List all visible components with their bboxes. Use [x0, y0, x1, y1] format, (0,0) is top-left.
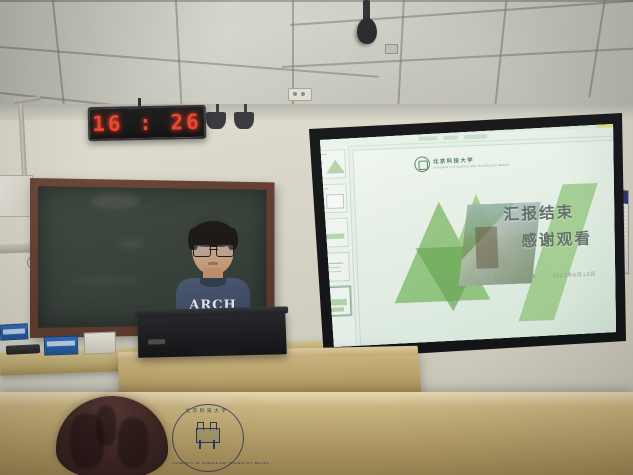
- emblem-english-text: UNIVERSITY OF SCIENCE AND TECHNOLOGY BEI…: [172, 461, 242, 465]
- classroom-photo: 通知栏 16 : 26 演示文稿1 - PowerPoint: [0, 0, 633, 475]
- clock-time-display: 16 : 26: [92, 110, 202, 136]
- digital-wall-clock: 16 : 26: [88, 105, 207, 141]
- university-emblem: 北京科技大学 UNIVERSITY OF SCIENCE AND TECHNOL…: [172, 404, 242, 470]
- presenter-shirt-collar: [200, 278, 226, 287]
- glasses-lens-right: [216, 244, 234, 257]
- presenter-mouth: [208, 262, 218, 265]
- slide-date-label: 2023年6月13日: [552, 271, 596, 280]
- powerpoint-window[interactable]: 演示文稿1 - PowerPoint 文件 开始 插入 设计 切换 动画 幻灯片…: [304, 113, 626, 359]
- ding-vessel-icon: [194, 422, 220, 448]
- ceiling: [0, 0, 633, 118]
- glasses-lens-left: [193, 244, 211, 257]
- ceiling-outlet-plate: [288, 88, 312, 101]
- supply-box[interactable]: [84, 331, 117, 354]
- slide-title-line2: 感谢观看: [521, 227, 593, 252]
- projection-screen[interactable]: 演示文稿1 - PowerPoint 文件 开始 插入 设计 切换 动画 幻灯片…: [304, 113, 626, 359]
- glasses-bridge: [209, 249, 218, 250]
- chalk-box-1[interactable]: [44, 335, 79, 355]
- projector-camera-icon: [357, 18, 377, 44]
- spotlight-1-icon: [206, 112, 226, 129]
- blackboard-eraser[interactable]: [6, 344, 40, 355]
- slide-university-logo: 北京科技大学 UNIVERSITY OF SCIENCE AND TECHNOL…: [414, 153, 510, 172]
- university-crest-icon: [414, 156, 430, 172]
- wall-mounted-box: [0, 175, 33, 217]
- slide-title-line1: 汇报结束: [503, 201, 575, 226]
- spotlight-2-icon: [234, 112, 254, 129]
- lectern-monitor[interactable]: [138, 310, 287, 357]
- ceiling-sensor: [385, 44, 398, 54]
- chalk-box-2[interactable]: [0, 323, 28, 340]
- monitor-stand: [194, 341, 238, 355]
- emblem-chinese-text: 北京科技大学: [172, 408, 242, 414]
- monitor-brand-badge: [148, 339, 165, 344]
- slide-canvas[interactable]: 北京科技大学 UNIVERSITY OF SCIENCE AND TECHNOL…: [352, 139, 626, 349]
- presenter-glasses-icon: [193, 244, 234, 256]
